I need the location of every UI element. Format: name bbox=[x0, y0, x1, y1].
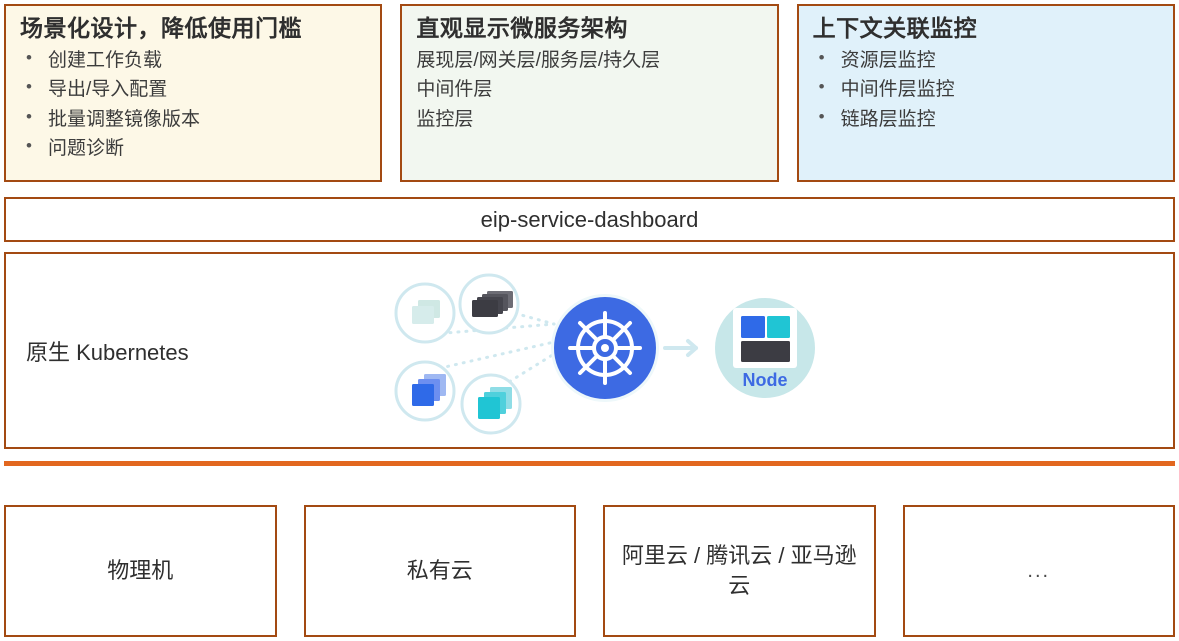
eip-service-dashboard-bar: eip-service-dashboard bbox=[4, 197, 1175, 242]
list-item: 展现层/网关层/服务层/持久层 bbox=[416, 46, 762, 75]
infra-box-others: ... bbox=[903, 505, 1176, 637]
dark-container-stack-icon bbox=[460, 275, 518, 333]
list-item: 问题诊断 bbox=[20, 134, 366, 163]
list-item: 中间件层监控 bbox=[813, 75, 1159, 104]
list-item: 创建工作负载 bbox=[20, 46, 366, 75]
infra-box-physical-machine: 物理机 bbox=[4, 505, 277, 637]
list-item: 批量调整镜像版本 bbox=[20, 105, 366, 134]
native-kubernetes-panel: 原生 Kubernetes bbox=[4, 252, 1175, 449]
kubernetes-helm-icon bbox=[551, 294, 659, 402]
kubernetes-layer-label: 原生 Kubernetes bbox=[26, 335, 189, 367]
teal-container-stack-icon bbox=[462, 375, 520, 433]
card-title: 上下文关联监控 bbox=[813, 14, 1159, 44]
infra-label: 私有云 bbox=[407, 556, 473, 586]
infrastructure-row: 物理机 私有云 阿里云 / 腾讯云 / 亚马逊云 ... bbox=[4, 505, 1175, 637]
feature-card-microservice-architecture: 直观显示微服务架构 展现层/网关层/服务层/持久层 中间件层 监控层 bbox=[400, 4, 778, 182]
infra-box-public-clouds: 阿里云 / 腾讯云 / 亚马逊云 bbox=[603, 505, 876, 637]
card-bullet-list: 资源层监控 中间件层监控 链路层监控 bbox=[813, 46, 1159, 134]
dashboard-label: eip-service-dashboard bbox=[481, 207, 699, 233]
generic-pod-icon bbox=[396, 284, 454, 342]
list-item: 资源层监控 bbox=[813, 46, 1159, 75]
node-label: Node bbox=[743, 370, 788, 390]
node-icon: Node bbox=[715, 298, 815, 398]
feature-cards-row: 场景化设计，降低使用门槛 创建工作负载 导出/导入配置 批量调整镜像版本 问题诊… bbox=[4, 4, 1175, 182]
infra-label: 物理机 bbox=[107, 556, 173, 586]
section-divider bbox=[4, 461, 1175, 466]
list-item: 监控层 bbox=[416, 105, 762, 134]
infra-box-private-cloud: 私有云 bbox=[304, 505, 577, 637]
blue-container-stack-icon bbox=[396, 362, 454, 420]
feature-card-scenario-design: 场景化设计，降低使用门槛 创建工作负载 导出/导入配置 批量调整镜像版本 问题诊… bbox=[4, 4, 382, 182]
infra-label: ... bbox=[1027, 558, 1050, 585]
list-item: 中间件层 bbox=[416, 75, 762, 104]
infra-label: 阿里云 / 腾讯云 / 亚马逊云 bbox=[617, 541, 862, 600]
card-title: 场景化设计，降低使用门槛 bbox=[20, 14, 366, 44]
card-bullet-list: 创建工作负载 导出/导入配置 批量调整镜像版本 问题诊断 bbox=[20, 46, 366, 164]
card-title: 直观显示微服务架构 bbox=[416, 14, 762, 44]
list-item: 导出/导入配置 bbox=[20, 75, 366, 104]
kubernetes-architecture-illustration: Node bbox=[374, 262, 824, 442]
card-line-list: 展现层/网关层/服务层/持久层 中间件层 监控层 bbox=[416, 46, 762, 134]
list-item: 链路层监控 bbox=[813, 105, 1159, 134]
feature-card-context-monitoring: 上下文关联监控 资源层监控 中间件层监控 链路层监控 bbox=[797, 4, 1175, 182]
flow-arrow-icon bbox=[665, 341, 696, 355]
